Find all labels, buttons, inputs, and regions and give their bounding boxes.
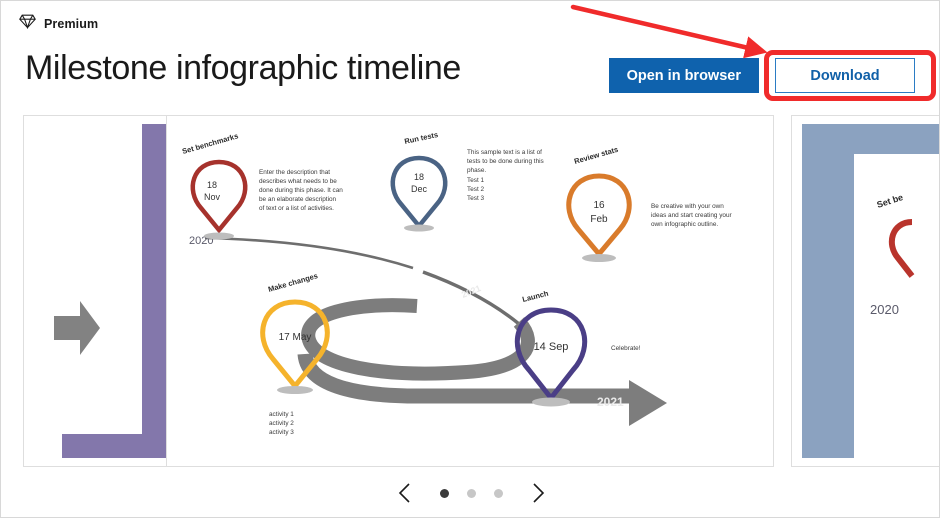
premium-label: Premium <box>44 17 98 31</box>
chevron-left-icon[interactable] <box>394 479 416 507</box>
carousel-navigation <box>1 479 940 507</box>
svg-text:activity 1 activity: activity 1 activity 2 activity 3 <box>269 411 296 436</box>
download-button[interactable]: Download <box>775 58 915 93</box>
svg-text:Feb: Feb <box>590 214 608 225</box>
svg-text:Enter the description that: Enter the description that describes wha… <box>259 169 345 212</box>
svg-text:17 May: 17 May <box>279 332 312 343</box>
action-buttons: Open in browser Download <box>609 58 915 93</box>
svg-text:2020: 2020 <box>870 302 899 317</box>
chevron-right-icon[interactable] <box>527 479 549 507</box>
carousel-dots <box>440 489 503 498</box>
svg-text:18: 18 <box>207 180 217 190</box>
template-carousel: 2020 2021 2021 Set benchmarks 18 Nov Ent… <box>1 115 940 467</box>
svg-text:Nov: Nov <box>204 192 221 202</box>
svg-text:16: 16 <box>593 200 605 211</box>
diamond-icon <box>19 14 36 34</box>
svg-text:14 Sep: 14 Sep <box>534 341 569 353</box>
annotation-arrow-icon <box>561 0 791 67</box>
carousel-dot-3[interactable] <box>494 489 503 498</box>
open-in-browser-button[interactable]: Open in browser <box>609 58 759 93</box>
svg-text:Celebrate!: Celebrate! <box>611 345 641 352</box>
svg-text:Dec: Dec <box>411 184 428 194</box>
carousel-dot-1[interactable] <box>440 489 449 498</box>
current-slide-infographic[interactable]: 2020 2021 2021 Set benchmarks 18 Nov Ent… <box>166 115 774 467</box>
year-end: 2021 <box>597 395 624 409</box>
premium-badge: Premium <box>19 14 98 34</box>
template-preview-page: Premium Milestone infographic timeline O… <box>0 0 940 518</box>
next-slide-preview[interactable]: Set be 2020 <box>791 115 940 467</box>
svg-text:18: 18 <box>414 172 424 182</box>
page-title: Milestone infographic timeline <box>25 49 461 88</box>
previous-slide-preview[interactable] <box>23 115 173 467</box>
carousel-dot-2[interactable] <box>467 489 476 498</box>
